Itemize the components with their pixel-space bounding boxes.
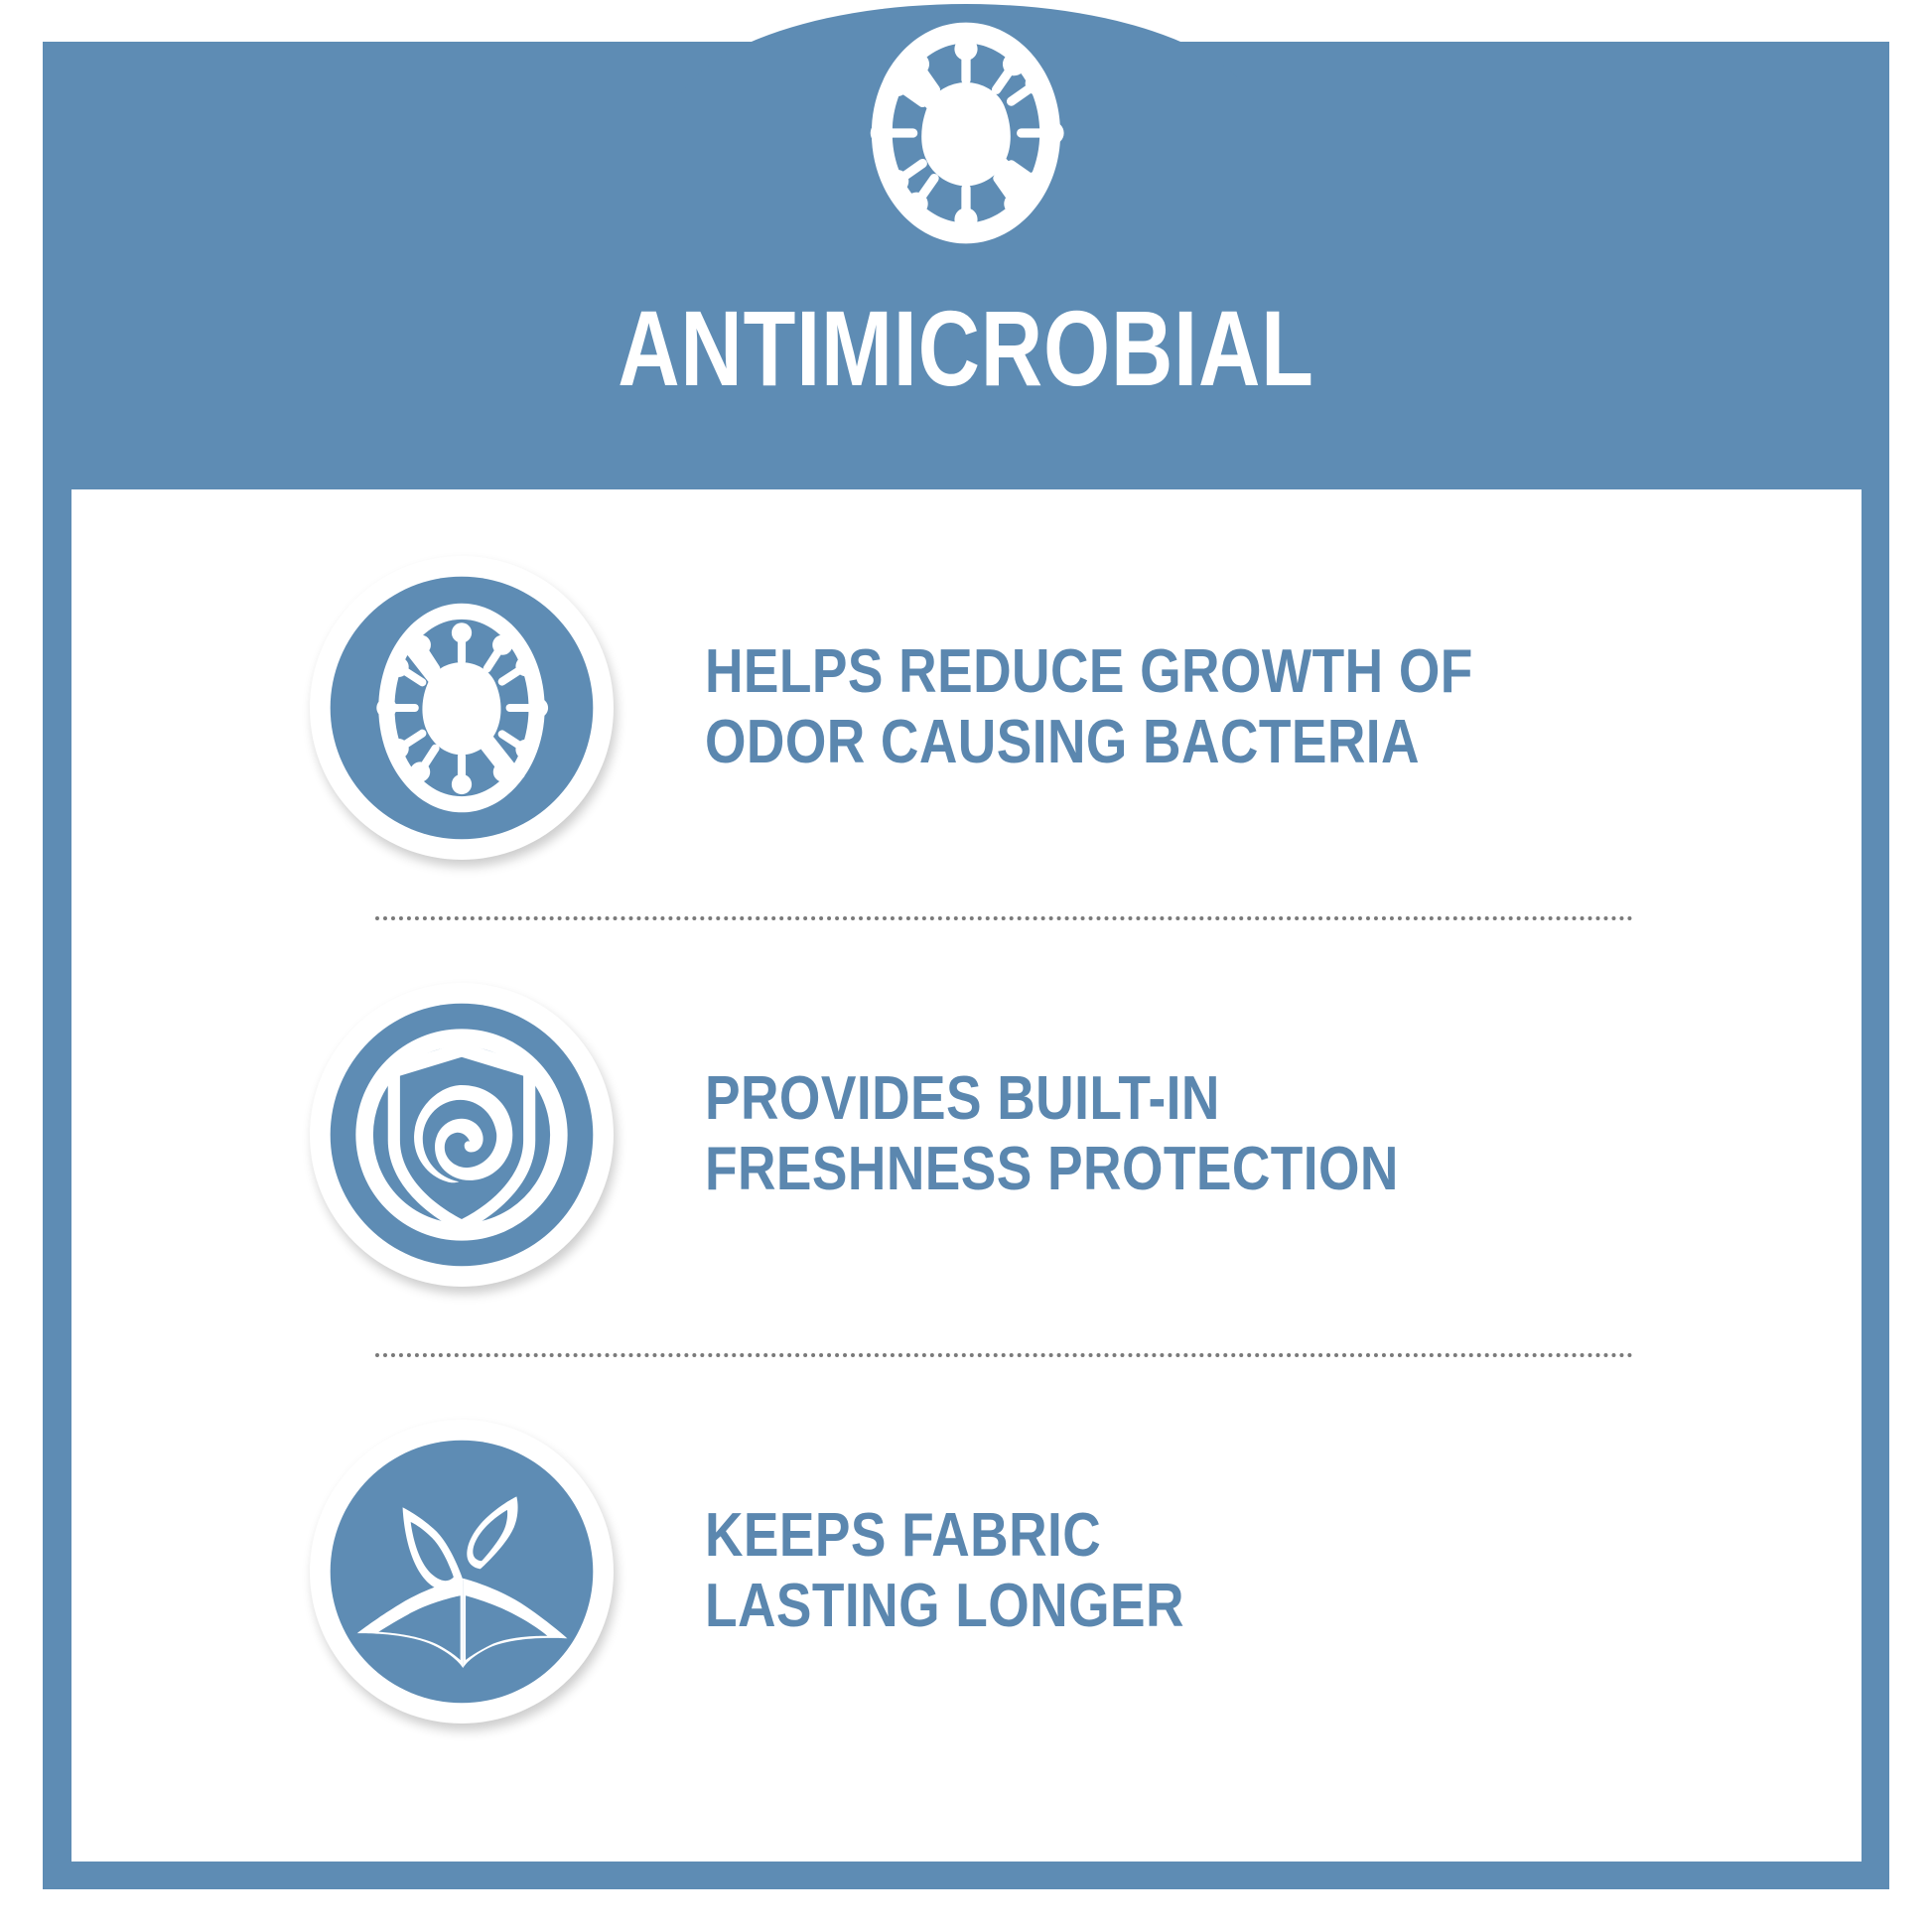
list-item: KEEPS FABRIC LASTING LONGER [71,1363,1862,1780]
list-item-label: PROVIDES BUILT-IN FRESHNESS PROTECTION [705,1064,1399,1204]
shield-freshness-badge-icon [310,983,614,1287]
antimicrobial-infographic: ANTIMICROBIAL [0,0,1932,1932]
list-item: PROVIDES BUILT-IN FRESHNESS PROTECTION [71,926,1862,1343]
row-divider [375,1353,1633,1357]
feature-list: HELPS REDUCE GROWTH OF ODOR CAUSING BACT… [71,489,1862,1862]
page-title: ANTIMICROBIAL [194,295,1739,402]
header-no-germ-icon [668,18,1264,248]
no-germ-badge-icon [310,556,614,860]
leaf-sprout-badge-icon [310,1420,614,1724]
list-item-label: HELPS REDUCE GROWTH OF ODOR CAUSING BACT… [705,637,1473,777]
list-item-label: KEEPS FABRIC LASTING LONGER [705,1501,1184,1641]
list-item: HELPS REDUCE GROWTH OF ODOR CAUSING BACT… [71,499,1862,916]
row-divider [375,916,1633,920]
